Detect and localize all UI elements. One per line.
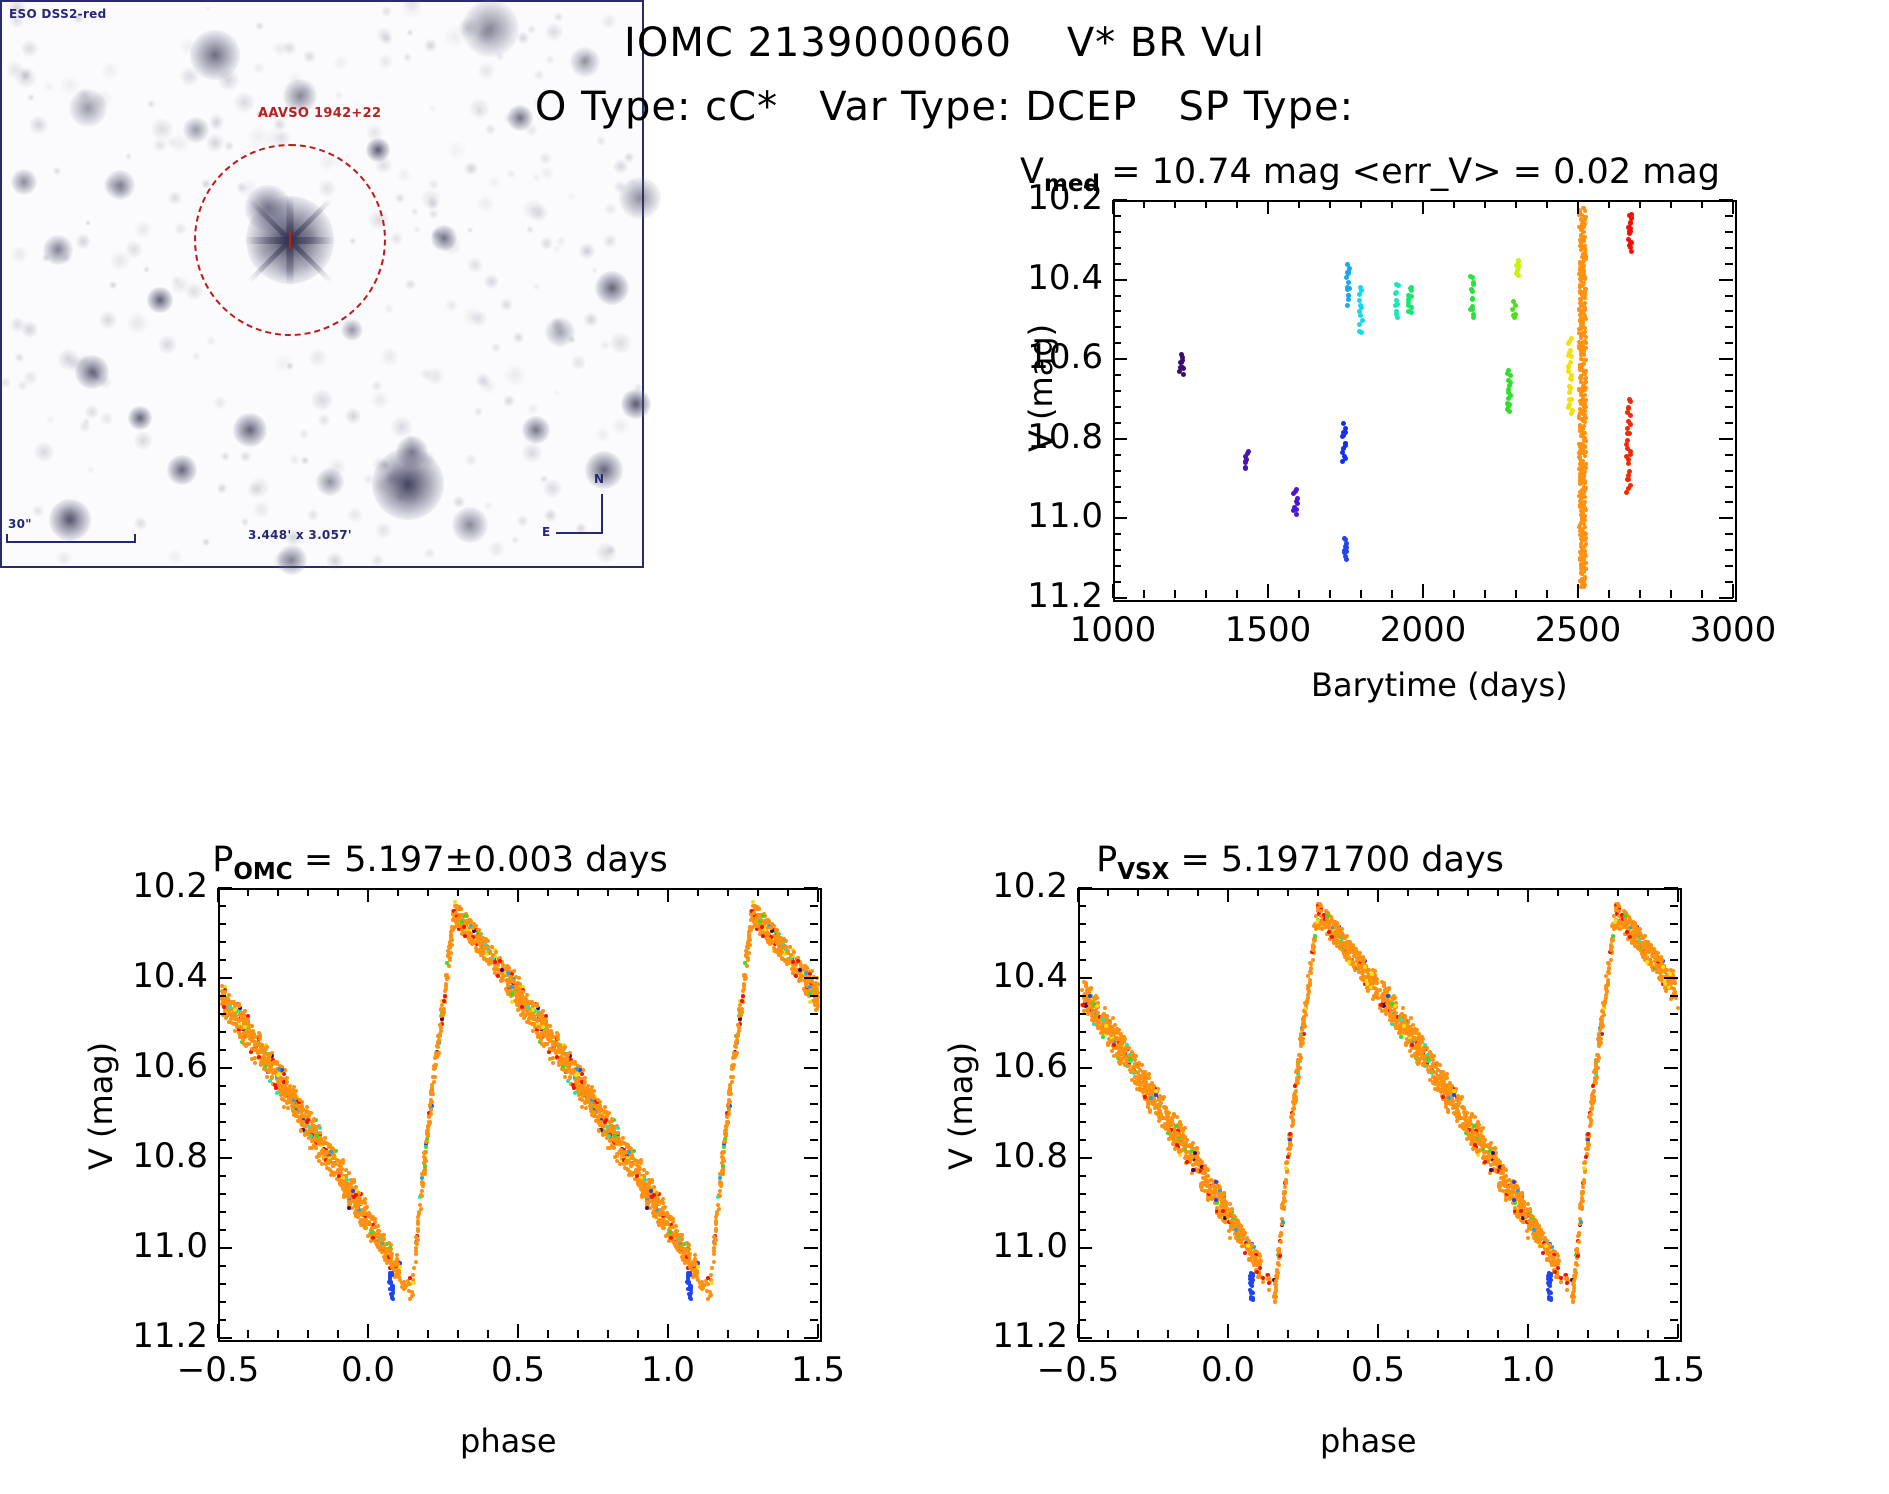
field-star [286,362,294,370]
x-axis-major-tick [1422,200,1424,214]
lightcurve-data-point [1357,292,1362,297]
x-axis-minor-tick [1515,590,1517,598]
phase-data-point [391,1297,395,1301]
phase-data-point [1401,1006,1405,1010]
field-star [411,208,418,215]
phase-data-point [469,937,473,941]
x-axis-minor-tick [1670,200,1672,208]
phase-data-point [714,1229,718,1233]
phase-data-point [577,1090,581,1094]
phase-data-point [712,1252,716,1256]
phase-data-point [799,978,803,982]
field-star [464,162,477,175]
phase-data-point [343,1191,347,1195]
phase-data-point [412,1266,416,1270]
field-star [554,12,564,22]
lightcurve-data-point [1395,315,1400,320]
phase-data-point [572,1069,576,1073]
y-axis-minor-tick [810,1211,818,1213]
field-star [206,134,224,152]
phase-data-point [662,1226,666,1230]
phase-data-point [360,1213,364,1217]
field-star [503,395,515,407]
phase-data-point [593,1114,597,1118]
field-star [467,257,483,273]
lightcurve-data-point [1516,273,1521,278]
y-axis-minor-tick [810,1283,818,1285]
phase-data-point [610,1119,614,1123]
sky-survey-image[interactable]: ESO DSS2-red AAVSO 1942+22 30" 3.448' x … [0,0,644,568]
field-star [85,405,99,419]
field-star [69,89,107,127]
lightcurve-data-point [1470,297,1475,302]
y-axis-major-tick [1113,517,1127,519]
y-axis-minor-tick [810,995,818,997]
field-star [378,54,393,69]
field-star [544,509,557,522]
x-axis-minor-tick [607,1330,609,1338]
phase-data-point [268,1079,272,1083]
phase-data-point [264,1061,268,1065]
field-star [570,47,600,77]
y-axis-tick-label: 10.6 [995,337,1103,377]
phase-data-point [757,907,761,911]
phase-data-point [734,1045,738,1049]
field-star [21,40,38,57]
phase-data-point [250,1024,254,1028]
lightcurve-data-point [1580,572,1584,576]
phase-data-point [510,985,514,989]
phase-data-point [721,1150,725,1154]
y-axis-minor-tick [1113,342,1121,344]
y-axis-minor-tick [1725,486,1733,488]
phase-vsx-plot-area[interactable] [1078,888,1682,1342]
field-star [522,416,551,445]
y-axis-minor-tick [1113,374,1121,376]
field-star [405,279,416,290]
x-axis-minor-tick [337,1330,339,1338]
phase-omc-panel: POMC = 5.197±0.003 days phase V (mag) −0… [60,840,820,1470]
phase-data-point [416,1219,420,1223]
phase-data-point [674,1224,678,1228]
x-axis-minor-tick [697,1330,699,1338]
field-star [127,312,148,333]
x-axis-minor-tick [757,888,759,896]
lightcurve-data-point [1629,249,1634,254]
x-axis-minor-tick [1391,200,1393,208]
field-star [171,276,180,285]
phase-data-point [668,1230,672,1234]
x-axis-tick-label: 0.0 [322,1350,414,1390]
y-axis-minor-tick [1725,406,1733,408]
phase-data-point [714,1219,718,1223]
phase-data-point [506,971,510,975]
phase-data-point [420,1176,424,1180]
field-star [316,468,345,497]
field-star [567,192,576,201]
phase-data-point [583,1076,587,1080]
y-axis-tick-label: 10.6 [100,1046,208,1086]
y-axis-minor-tick [810,1319,818,1321]
phase-data-point [531,1008,535,1012]
field-star [134,221,151,238]
phase-data-point [277,1081,281,1085]
phase-data-point [380,1239,384,1243]
field-star [174,223,186,235]
phase-vsx-title-prefix: P [1096,840,1117,880]
phase-data-point [400,1285,404,1289]
phase-data-point [760,925,764,929]
field-star [85,220,91,226]
phase-data-point [635,1174,639,1178]
y-axis-major-tick [218,1247,232,1249]
x-axis-minor-tick [457,888,459,896]
y-axis-minor-tick [1113,247,1121,249]
phase-data-point [687,1254,691,1258]
phase-data-point [1565,1281,1569,1285]
phase-data-point [566,1079,570,1083]
phase-data-point [706,1282,710,1286]
phase-data-point [722,1145,726,1149]
phase-data-point [294,1089,298,1093]
lightcurve-data-point [1470,307,1475,312]
field-star [79,421,90,432]
x-axis-minor-tick [1143,200,1145,208]
phase-data-point [377,1246,381,1250]
x-axis-major-tick [667,888,669,902]
phase-data-point [1162,1095,1166,1099]
phase-data-point [726,1103,730,1107]
phase-data-point [639,1158,643,1162]
compass-east-line [556,532,603,534]
field-star [371,554,384,567]
y-axis-major-tick [1113,438,1127,440]
field-star [190,30,239,79]
phase-data-point [408,1282,412,1286]
field-star [584,312,598,326]
phase-data-point [731,1066,735,1070]
bright-field-star [372,448,444,520]
phase-data-point [364,1226,368,1230]
phase-data-point [1460,1095,1464,1099]
y-axis-major-tick [1719,199,1733,201]
y-axis-minor-tick [218,1211,226,1213]
phase-data-point [388,1281,392,1285]
phase-data-point [443,989,447,993]
x-axis-minor-tick [577,1330,579,1338]
field-star [326,552,344,568]
x-axis-major-tick [667,1324,669,1338]
lightcurve-data-point [1583,454,1587,458]
x-axis-minor-tick [1360,200,1362,208]
y-axis-minor-tick [1113,565,1121,567]
phase-data-point [253,1061,257,1065]
phase-data-point [376,1234,380,1238]
phase-data-point [592,1089,596,1093]
lightcurve-plot-area[interactable] [1113,200,1737,602]
phase-data-point [516,991,520,995]
phase-data-point [505,964,509,968]
field-star [543,479,562,498]
x-axis-minor-tick [577,888,579,896]
phase-data-point [535,1002,539,1006]
field-star [165,136,177,148]
field-star [553,245,560,252]
phase-data-point [796,959,800,963]
phase-data-point [542,1017,546,1021]
phase-data-point [424,1145,428,1149]
x-axis-minor-tick [1608,200,1610,208]
field-star [600,340,610,350]
field-star [109,281,117,289]
x-axis-minor-tick [1298,590,1300,598]
field-star [318,414,330,426]
y-axis-minor-tick [810,941,818,943]
y-axis-minor-tick [810,1175,818,1177]
x-axis-minor-tick [1236,590,1238,598]
y-axis-minor-tick [1725,263,1733,265]
lightcurve-data-point [1470,275,1475,280]
y-axis-minor-tick [1113,215,1121,217]
x-axis-major-tick [1577,200,1579,214]
x-axis-minor-tick [487,888,489,896]
phase-data-point [602,1115,606,1119]
scale-bar [6,541,136,543]
phase-data-point [341,1158,345,1162]
y-axis-major-tick [1719,358,1733,360]
target-aperture-circle [194,144,386,336]
field-star [534,70,544,80]
field-star [99,311,117,329]
field-star [469,98,490,119]
y-axis-minor-tick [1113,390,1121,392]
y-axis-minor-tick [218,1283,226,1285]
field-star [56,550,72,566]
x-axis-minor-tick [277,888,279,896]
phase-data-point [675,1246,679,1250]
field-star [545,55,555,65]
x-axis-tick-label: 0.5 [472,1350,564,1390]
field-star [484,501,493,510]
field-star [335,91,344,100]
phase-data-point [719,1184,723,1188]
field-star [476,373,491,388]
field-star [44,81,54,91]
x-axis-major-tick [1732,584,1734,598]
lightcurve-data-point [1584,439,1588,443]
phase-data-point [737,1008,741,1012]
lightcurve-data-point [1582,353,1586,357]
phase-data-point [712,1241,716,1245]
phase-data-point [575,1072,579,1076]
x-axis-minor-tick [637,1330,639,1338]
phase-data-point [540,1031,544,1035]
y-axis-tick-label: 10.4 [995,258,1103,298]
phase-data-point [411,1273,415,1277]
phase-data-point [387,1248,391,1252]
phase-data-point [407,1289,411,1293]
phase-data-point [686,1281,690,1285]
phase-data-point [631,1162,635,1166]
x-axis-major-tick [367,888,369,902]
phase-data-point [604,1132,608,1136]
field-star [403,53,412,62]
phase-data-point [731,1056,735,1060]
x-axis-tick-label: 1.5 [772,1350,864,1390]
phase-data-point [344,1168,348,1172]
phase-data-point [810,969,814,973]
phase-data-point [333,1162,337,1166]
x-axis-minor-tick [637,888,639,896]
x-axis-minor-tick [1391,590,1393,598]
field-star [527,403,540,416]
x-axis-minor-tick [1515,200,1517,208]
field-star [34,442,53,461]
x-axis-minor-tick [727,1330,729,1338]
lightcurve-data-point [1359,330,1364,335]
lightcurve-data-point [1624,490,1629,495]
lightcurve-data-point [1340,459,1345,464]
phase-data-point [416,1229,420,1233]
field-star [46,415,55,424]
y-axis-major-tick [218,887,232,889]
y-axis-minor-tick [218,1121,226,1123]
field-star [49,499,91,541]
y-axis-minor-tick [1113,549,1121,551]
x-axis-minor-tick [247,1330,249,1338]
field-star [517,32,530,45]
lightcurve-title: Vmed = 10.74 mag <err_V> = 0.02 mag [1000,152,1740,192]
phase-data-point [531,1014,535,1018]
phase-data-point [815,1002,819,1006]
field-star [390,232,403,245]
field-star [513,332,524,343]
phase-data-point [233,1014,237,1018]
phase-data-point [280,1097,284,1101]
phase-data-point [400,1281,404,1285]
phase-data-point [265,1045,269,1049]
y-axis-minor-tick [1725,565,1733,567]
field-star [603,234,617,248]
field-star [32,505,45,518]
phase-data-point [512,969,516,973]
field-star [217,483,227,493]
phase-data-point [712,1249,716,1253]
y-axis-minor-tick [218,995,226,997]
lightcurve-panel: Vmed = 10.74 mag <err_V> = 0.02 mag Bary… [1000,152,1740,672]
phase-data-point [364,1212,368,1216]
field-star [384,304,394,314]
phase-data-point [459,907,463,911]
phase-omc-plot-area[interactable] [218,888,822,1342]
y-axis-tick-label: 11.0 [995,496,1103,536]
phase-data-point [375,1243,379,1247]
phase-data-point [462,925,466,929]
phase-data-point [244,1017,248,1021]
x-axis-minor-tick [1453,200,1455,208]
field-star [611,417,629,435]
phase-data-point [596,1098,600,1102]
y-axis-minor-tick [1113,310,1121,312]
y-axis-minor-tick [218,1175,226,1177]
phase-data-point [562,1061,566,1065]
phase-data-point [625,1161,629,1165]
x-axis-tick-label: 3000 [1687,610,1779,650]
phase-data-point [447,964,451,968]
field-star [395,193,405,203]
field-star [506,169,516,179]
phase-data-point [710,1281,714,1285]
phase-data-point [298,1098,302,1102]
x-axis-minor-tick [487,1330,489,1338]
lightcurve-data-point [1583,393,1587,397]
y-axis-minor-tick [810,1121,818,1123]
field-star [221,452,229,460]
field-star [397,168,412,183]
phase-data-point [641,1191,645,1195]
phase-omc-x-axis-label: phase [460,1422,557,1460]
field-star [167,549,183,565]
field-star [289,454,300,465]
field-size-label: 3.448' x 3.057' [248,528,352,542]
lightcurve-data-point [1628,399,1633,404]
field-star [255,22,263,30]
phase-data-point [621,1153,625,1157]
lightcurve-data-point [1409,288,1414,293]
scale-bar-cap-right [134,534,136,543]
x-axis-tick-label: 1500 [1222,610,1314,650]
phase-data-point [419,1193,423,1197]
y-axis-minor-tick [1113,406,1121,408]
compass-n-label: N [594,472,604,486]
phase-data-point [288,1090,292,1094]
compass-e-label: E [542,525,551,539]
field-star [429,105,436,112]
phase-data-point [586,1090,590,1094]
lightcurve-data-point [1345,303,1350,308]
phase-data-point [505,989,509,993]
y-axis-major-tick [218,977,232,979]
phase-data-point [1258,1254,1262,1258]
y-axis-minor-tick [1725,533,1733,535]
field-star [233,413,267,447]
field-star [100,412,113,425]
y-axis-minor-tick [810,1193,818,1195]
phase-data-point [285,1076,289,1080]
x-axis-minor-tick [427,888,429,896]
phase-data-point [448,956,452,960]
phase-data-point [233,1008,237,1012]
phase-data-point [621,1136,625,1140]
phase-data-point [548,1047,552,1051]
phase-data-point [693,1258,697,1262]
y-axis-minor-tick [810,905,818,907]
field-star [206,336,216,346]
phase-data-point [803,989,807,993]
phase-data-point [607,1111,611,1115]
field-star [347,507,363,523]
phase-data-point [551,1061,555,1065]
phase-data-point [323,1153,327,1157]
y-axis-minor-tick [1725,501,1733,503]
phase-data-point [275,1091,279,1095]
x-axis-minor-tick [1453,590,1455,598]
phase-data-point [685,1241,689,1245]
x-axis-major-tick [367,1324,369,1338]
phase-data-point [227,999,231,1003]
phase-data-point [616,1126,620,1130]
y-axis-major-tick [804,977,818,979]
